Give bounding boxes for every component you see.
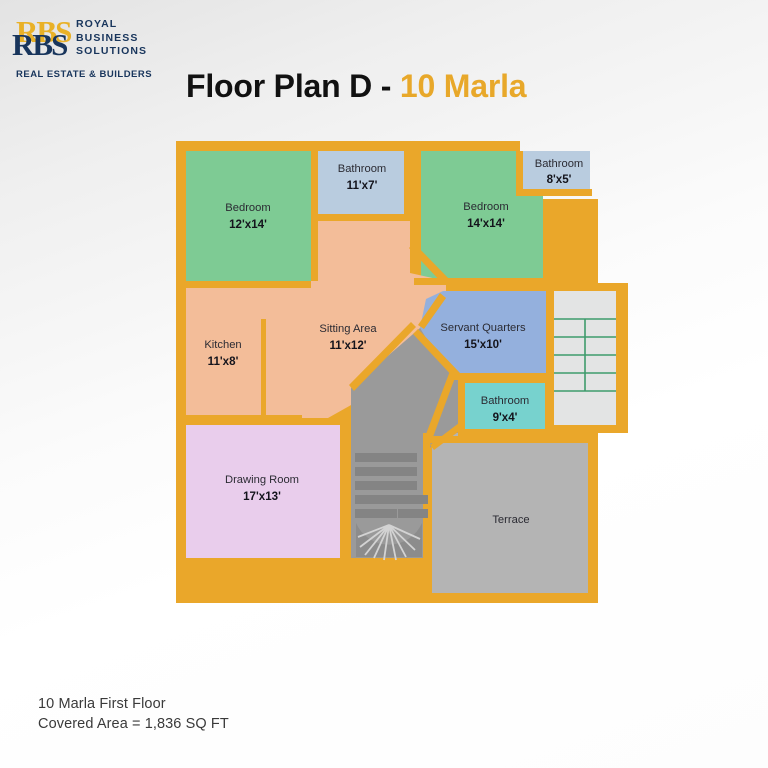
dim-bathroom-2: 8'x5' bbox=[547, 173, 572, 186]
wall-servant-bottom bbox=[451, 373, 551, 380]
dim-kitchen: 11'x8' bbox=[208, 355, 239, 368]
company-logo: RBS RBS ROYAL BUSINESS SOLUTIONS REAL ES… bbox=[12, 14, 192, 78]
wall-bath1-right bbox=[404, 151, 411, 221]
plan-summary: 10 Marla First Floor Covered Area = 1,83… bbox=[38, 694, 229, 734]
stair-tread-6 bbox=[398, 495, 428, 504]
page-title-accent: 10 Marla bbox=[400, 68, 526, 104]
wall-sitting-bottom-stub bbox=[182, 415, 302, 420]
company-name-line2: BUSINESS bbox=[76, 32, 147, 46]
stair-tread-7 bbox=[398, 509, 428, 518]
wall-servant-right bbox=[546, 285, 553, 435]
wall-drawing-right bbox=[340, 418, 347, 560]
stair-tread-5 bbox=[355, 509, 397, 518]
label-terrace: Terrace bbox=[492, 514, 529, 526]
dim-bathroom-3: 9'x4' bbox=[493, 411, 518, 424]
room-kitchen bbox=[186, 288, 264, 418]
company-name-line3: SOLUTIONS bbox=[76, 45, 147, 59]
wall-bath2-bottom bbox=[516, 189, 592, 196]
label-kitchen: Kitchen bbox=[204, 339, 241, 351]
wall-kitchen-divider bbox=[261, 319, 266, 419]
company-name-line1: ROYAL bbox=[76, 18, 147, 32]
stair-tread-3 bbox=[355, 481, 417, 490]
label-bathroom-2: Bathroom bbox=[535, 158, 584, 170]
floor-plan-drawing: Bedroom 12'x14' Bathroom 11'x7' Bedroom … bbox=[168, 133, 628, 603]
dim-bedroom-2: 14'x14' bbox=[467, 217, 505, 230]
dim-sitting-area: 11'x12' bbox=[329, 339, 366, 352]
wall-bedroom2-bottom bbox=[414, 278, 548, 285]
label-bedroom-1: Bedroom bbox=[225, 202, 270, 214]
wall-bedroom2-left bbox=[414, 151, 421, 246]
dim-servant-quarters: 15'x10' bbox=[464, 338, 502, 351]
label-sitting-area: Sitting Area bbox=[319, 323, 377, 335]
label-bathroom-3: Bathroom bbox=[481, 395, 530, 407]
room-bedroom-1 bbox=[186, 151, 311, 281]
dim-bedroom-1: 12'x14' bbox=[229, 218, 267, 231]
label-bedroom-2: Bedroom bbox=[463, 201, 508, 213]
company-tagline: REAL ESTATE & BUILDERS bbox=[16, 69, 152, 80]
floor-plan-page: RBS RBS ROYAL BUSINESS SOLUTIONS REAL ES… bbox=[0, 0, 768, 768]
wall-bedroom1-stub bbox=[186, 281, 276, 288]
rbs-monogram-icon: RBS RBS bbox=[12, 14, 74, 68]
stair-tread-1 bbox=[355, 453, 417, 462]
stair-tread-2 bbox=[355, 467, 417, 476]
wall-bath3-bottom bbox=[458, 429, 553, 436]
window-grid-panel bbox=[554, 291, 616, 425]
dim-drawing-room: 17'x13' bbox=[243, 490, 281, 503]
plan-summary-line1: 10 Marla First Floor bbox=[38, 694, 229, 714]
dim-bathroom-1: 11'x7' bbox=[347, 179, 378, 192]
rbs-monogram-navy: RBS bbox=[12, 29, 66, 60]
company-name: ROYAL BUSINESS SOLUTIONS bbox=[76, 18, 147, 59]
plan-summary-line2: Covered Area = 1,836 SQ FT bbox=[38, 714, 229, 734]
page-title: Floor Plan D - 10 Marla bbox=[186, 68, 606, 105]
label-bathroom-1: Bathroom bbox=[338, 163, 387, 175]
label-servant-quarters: Servant Quarters bbox=[440, 322, 526, 334]
page-title-main: Floor Plan D - bbox=[186, 68, 400, 104]
label-drawing-room: Drawing Room bbox=[225, 474, 299, 486]
wall-bath1-bottom bbox=[311, 214, 411, 221]
